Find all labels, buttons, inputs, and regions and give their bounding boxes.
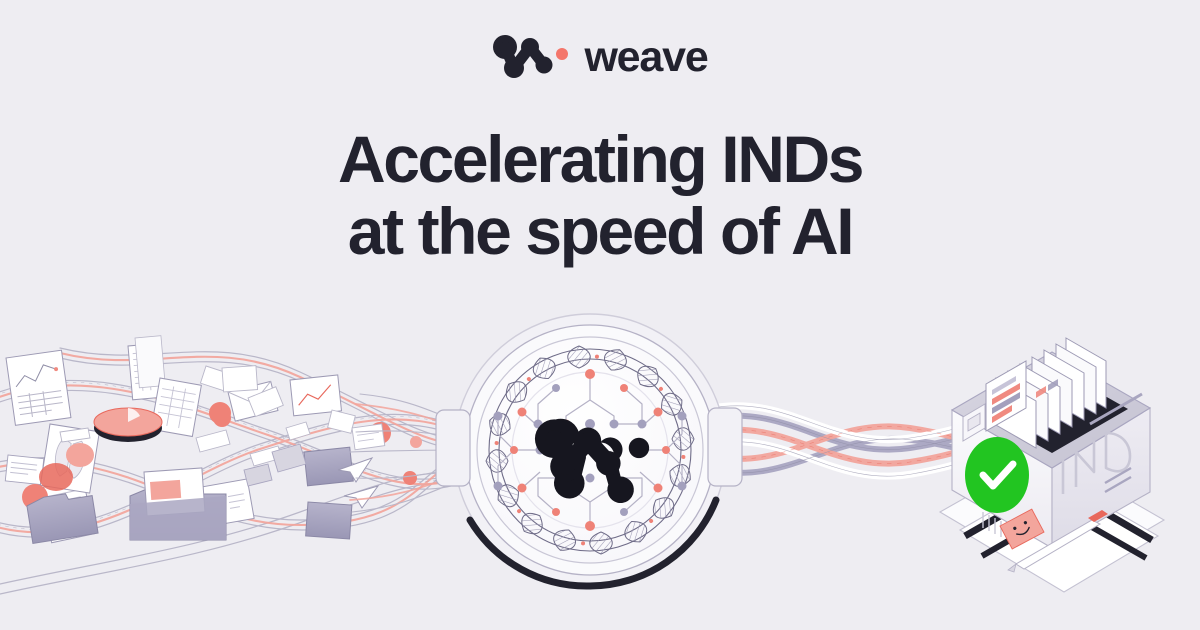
accent-dot-icon	[556, 48, 568, 60]
pie-chart-disc	[94, 408, 162, 442]
page-title: Accelerating INDs at the speed of AI	[0, 124, 1200, 267]
ind-submission-box	[940, 338, 1164, 592]
promo-banner: weave Accelerating INDs at the speed of …	[0, 0, 1200, 630]
headline-line-1: Accelerating INDs	[0, 124, 1200, 196]
scattered-research-documents	[5, 336, 422, 544]
folder-closed	[304, 447, 353, 486]
weave-ai-hub	[436, 314, 742, 586]
weave-molecule-logo-icon	[492, 34, 570, 80]
brand-wordmark: weave	[584, 36, 707, 79]
folder-closed	[306, 502, 352, 539]
check-circle-icon	[965, 437, 1029, 513]
headline-line-2: at the speed of AI	[0, 196, 1200, 268]
hero-illustration	[0, 0, 1200, 630]
folder-open	[130, 468, 226, 540]
brand-logo[interactable]: weave	[0, 34, 1200, 80]
